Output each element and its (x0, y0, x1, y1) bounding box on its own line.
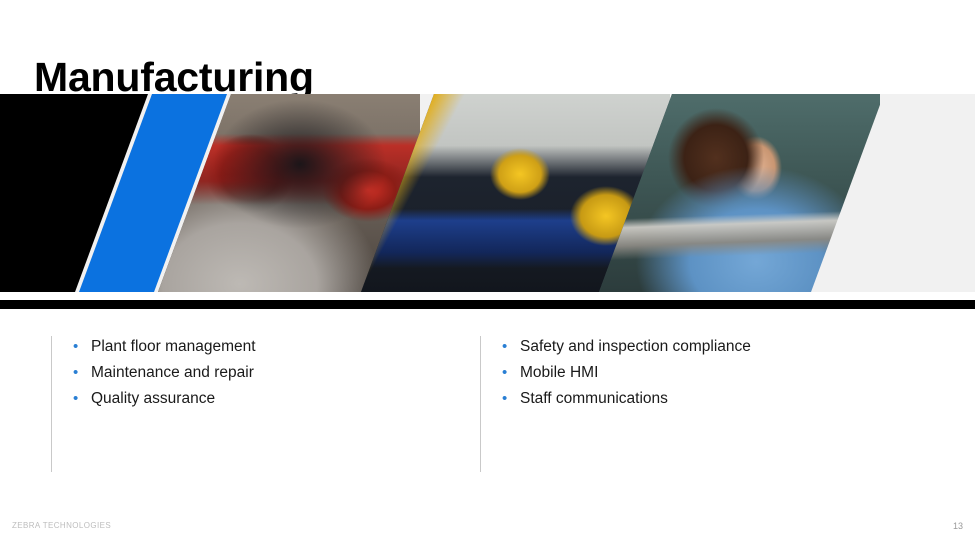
slide: Manufacturing • Plant floor management •… (0, 0, 975, 548)
bullet-dot-icon: • (73, 391, 91, 406)
bullet-label: Safety and inspection compliance (520, 336, 751, 358)
bullet-label: Quality assurance (91, 388, 215, 410)
horizontal-rule (0, 300, 975, 309)
hero-image-band (0, 94, 975, 292)
bullet-columns: • Plant floor management • Maintenance a… (0, 336, 975, 476)
slide-number: 13 (953, 521, 963, 531)
bullet-dot-icon: • (502, 365, 520, 380)
bullet-label: Plant floor management (91, 336, 256, 358)
list-item: • Plant floor management (73, 336, 451, 361)
bullet-label: Maintenance and repair (91, 362, 254, 384)
list-item: • Staff communications (502, 388, 940, 413)
bullet-dot-icon: • (502, 391, 520, 406)
list-item: • Safety and inspection compliance (502, 336, 940, 361)
bullet-dot-icon: • (502, 339, 520, 354)
list-item: • Quality assurance (73, 388, 451, 413)
bullet-column-left: • Plant floor management • Maintenance a… (51, 336, 451, 472)
bullet-dot-icon: • (73, 339, 91, 354)
bullet-label: Staff communications (520, 388, 668, 410)
bullet-column-right: • Safety and inspection compliance • Mob… (480, 336, 940, 472)
bullet-label: Mobile HMI (520, 362, 598, 384)
footer-brand: ZEBRA TECHNOLOGIES (12, 521, 111, 530)
list-item: • Mobile HMI (502, 362, 940, 387)
bullet-dot-icon: • (73, 365, 91, 380)
list-item: • Maintenance and repair (73, 362, 451, 387)
